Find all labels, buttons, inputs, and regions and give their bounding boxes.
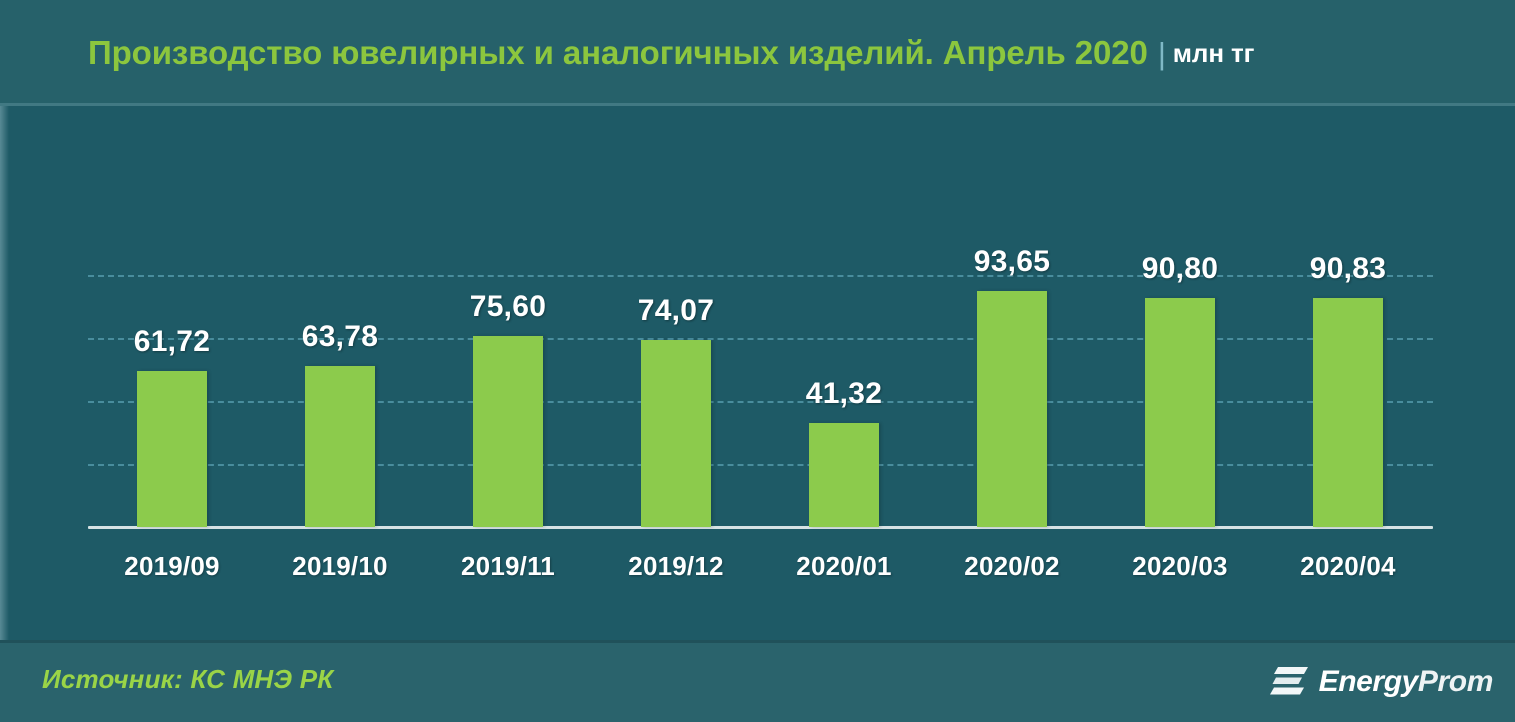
bar-column[interactable] bbox=[424, 336, 592, 527]
energyprom-logo[interactable]: EnergyProm bbox=[1270, 660, 1493, 704]
x-axis-category-label: 2020/04 bbox=[1264, 551, 1432, 582]
bar-column[interactable] bbox=[256, 366, 424, 527]
bar-value-label: 63,78 bbox=[256, 320, 424, 354]
logo-text-energy: Energy bbox=[1319, 665, 1418, 698]
bar[interactable] bbox=[305, 366, 375, 527]
bar-column[interactable] bbox=[592, 340, 760, 527]
bar-column[interactable] bbox=[928, 291, 1096, 527]
x-axis-category-label: 2020/02 bbox=[928, 551, 1096, 582]
x-axis-category-label: 2019/11 bbox=[424, 551, 592, 582]
bar[interactable] bbox=[809, 423, 879, 527]
bars-layer: 61,722019/0963,782019/1075,602019/1174,0… bbox=[0, 106, 1515, 635]
energyprom-wordmark: EnergyProm bbox=[1319, 665, 1493, 699]
bar-column[interactable] bbox=[760, 423, 928, 527]
bar-value-label: 90,80 bbox=[1096, 252, 1264, 286]
bar-value-label: 93,65 bbox=[928, 245, 1096, 279]
footer-band: Источник: КС МНЭ РК EnergyProm bbox=[0, 640, 1515, 722]
logo-text-prom: Prom bbox=[1418, 665, 1493, 698]
bar-value-label: 61,72 bbox=[88, 325, 256, 359]
header-band: Производство ювелирных и аналогичных изд… bbox=[0, 0, 1515, 106]
title-separator: | bbox=[1148, 36, 1173, 71]
bar-value-label: 41,32 bbox=[760, 377, 928, 411]
source-note: Источник: КС МНЭ РК bbox=[42, 664, 333, 695]
page-title: Производство ювелирных и аналогичных изд… bbox=[88, 33, 1254, 75]
bar-column[interactable] bbox=[1096, 298, 1264, 527]
bar-value-label: 90,83 bbox=[1264, 252, 1432, 286]
infographic-chart: Производство ювелирных и аналогичных изд… bbox=[0, 0, 1515, 722]
x-axis-category-label: 2019/09 bbox=[88, 551, 256, 582]
bar-value-label: 74,07 bbox=[592, 294, 760, 328]
x-axis-category-label: 2019/12 bbox=[592, 551, 760, 582]
x-axis-category-label: 2019/10 bbox=[256, 551, 424, 582]
bar[interactable] bbox=[977, 291, 1047, 527]
energyprom-e-icon bbox=[1270, 665, 1310, 699]
bar[interactable] bbox=[1145, 298, 1215, 527]
bar-column[interactable] bbox=[88, 371, 256, 527]
plot-area: 61,722019/0963,782019/1075,602019/1174,0… bbox=[0, 106, 1515, 635]
bar-value-label: 75,60 bbox=[424, 290, 592, 324]
x-axis-category-label: 2020/01 bbox=[760, 551, 928, 582]
title-main-text: Производство ювелирных и аналогичных изд… bbox=[88, 34, 1148, 71]
bar[interactable] bbox=[137, 371, 207, 527]
bar[interactable] bbox=[641, 340, 711, 527]
bar[interactable] bbox=[473, 336, 543, 527]
bar[interactable] bbox=[1313, 298, 1383, 527]
bar-column[interactable] bbox=[1264, 298, 1432, 527]
x-axis-category-label: 2020/03 bbox=[1096, 551, 1264, 582]
title-unit-label: млн тг bbox=[1173, 38, 1255, 68]
